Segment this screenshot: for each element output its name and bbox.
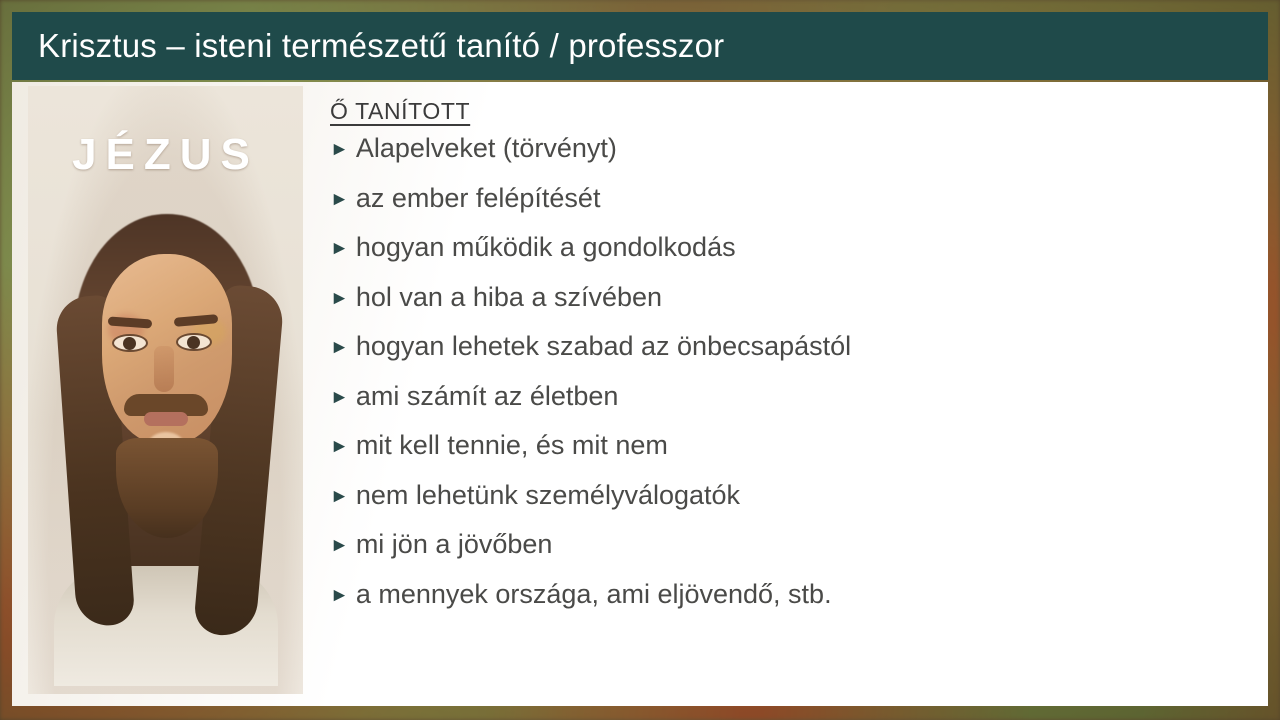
pupil-right-shape — [187, 336, 200, 349]
portrait-canvas: JÉZUS — [28, 86, 303, 694]
bullet-triangle-icon: ► — [330, 388, 349, 407]
portrait-figure — [46, 206, 286, 676]
bullet-triangle-icon: ► — [330, 487, 349, 506]
list-item-label: hogyan lehetek szabad az önbecsapástól — [356, 329, 851, 364]
list-item: ► hogyan működik a gondolkodás — [322, 230, 1242, 265]
body-heading: Ő TANÍTOTT — [330, 98, 1242, 125]
list-item-label: hol van a hiba a szívében — [356, 280, 662, 315]
list-item: ► hol van a hiba a szívében — [322, 280, 1242, 315]
bullet-triangle-icon: ► — [330, 437, 349, 456]
body-text-column: Ő TANÍTOTT ► Alapelveket (törvényt) ► az… — [322, 88, 1242, 626]
list-item-label: ami számít az életben — [356, 379, 619, 414]
bullet-list: ► Alapelveket (törvényt) ► az ember felé… — [322, 131, 1242, 611]
bullet-triangle-icon: ► — [330, 536, 349, 555]
list-item: ► ami számít az életben — [322, 379, 1242, 414]
list-item: ► Alapelveket (törvényt) — [322, 131, 1242, 166]
portrait-image: JÉZUS — [28, 86, 303, 694]
list-item: ► mi jön a jövőben — [322, 527, 1242, 562]
list-item: ► az ember felépítését — [322, 181, 1242, 216]
page-title: Krisztus – isteni természetű tanító / pr… — [12, 27, 724, 65]
bullet-triangle-icon: ► — [330, 338, 349, 357]
mouth-shape — [144, 412, 188, 426]
bullet-triangle-icon: ► — [330, 239, 349, 258]
bullet-triangle-icon: ► — [330, 586, 349, 605]
list-item-label: a mennyek országa, ami eljövendő, stb. — [356, 577, 832, 612]
pupil-left-shape — [123, 337, 136, 350]
portrait-caption: JÉZUS — [28, 130, 303, 180]
list-item-label: hogyan működik a gondolkodás — [356, 230, 736, 265]
list-item: ► mit kell tennie, és mit nem — [322, 428, 1242, 463]
slide: Krisztus – isteni természetű tanító / pr… — [0, 0, 1280, 720]
list-item: ► hogyan lehetek szabad az önbecsapástól — [322, 329, 1242, 364]
bullet-triangle-icon: ► — [330, 140, 349, 159]
list-item-label: nem lehetünk személyválogatók — [356, 478, 740, 513]
content-panel: JÉZUS — [12, 82, 1268, 706]
list-item: ► a mennyek országa, ami eljövendő, stb. — [322, 577, 1242, 612]
list-item-label: mi jön a jövőben — [356, 527, 553, 562]
list-item-label: mit kell tennie, és mit nem — [356, 428, 668, 463]
bullet-triangle-icon: ► — [330, 289, 349, 308]
list-item: ► nem lehetünk személyválogatók — [322, 478, 1242, 513]
nose-shape — [154, 346, 174, 392]
list-item-label: az ember felépítését — [356, 181, 601, 216]
bullet-triangle-icon: ► — [330, 190, 349, 209]
slide-title-bar: Krisztus – isteni természetű tanító / pr… — [12, 12, 1268, 80]
list-item-label: Alapelveket (törvényt) — [356, 131, 617, 166]
